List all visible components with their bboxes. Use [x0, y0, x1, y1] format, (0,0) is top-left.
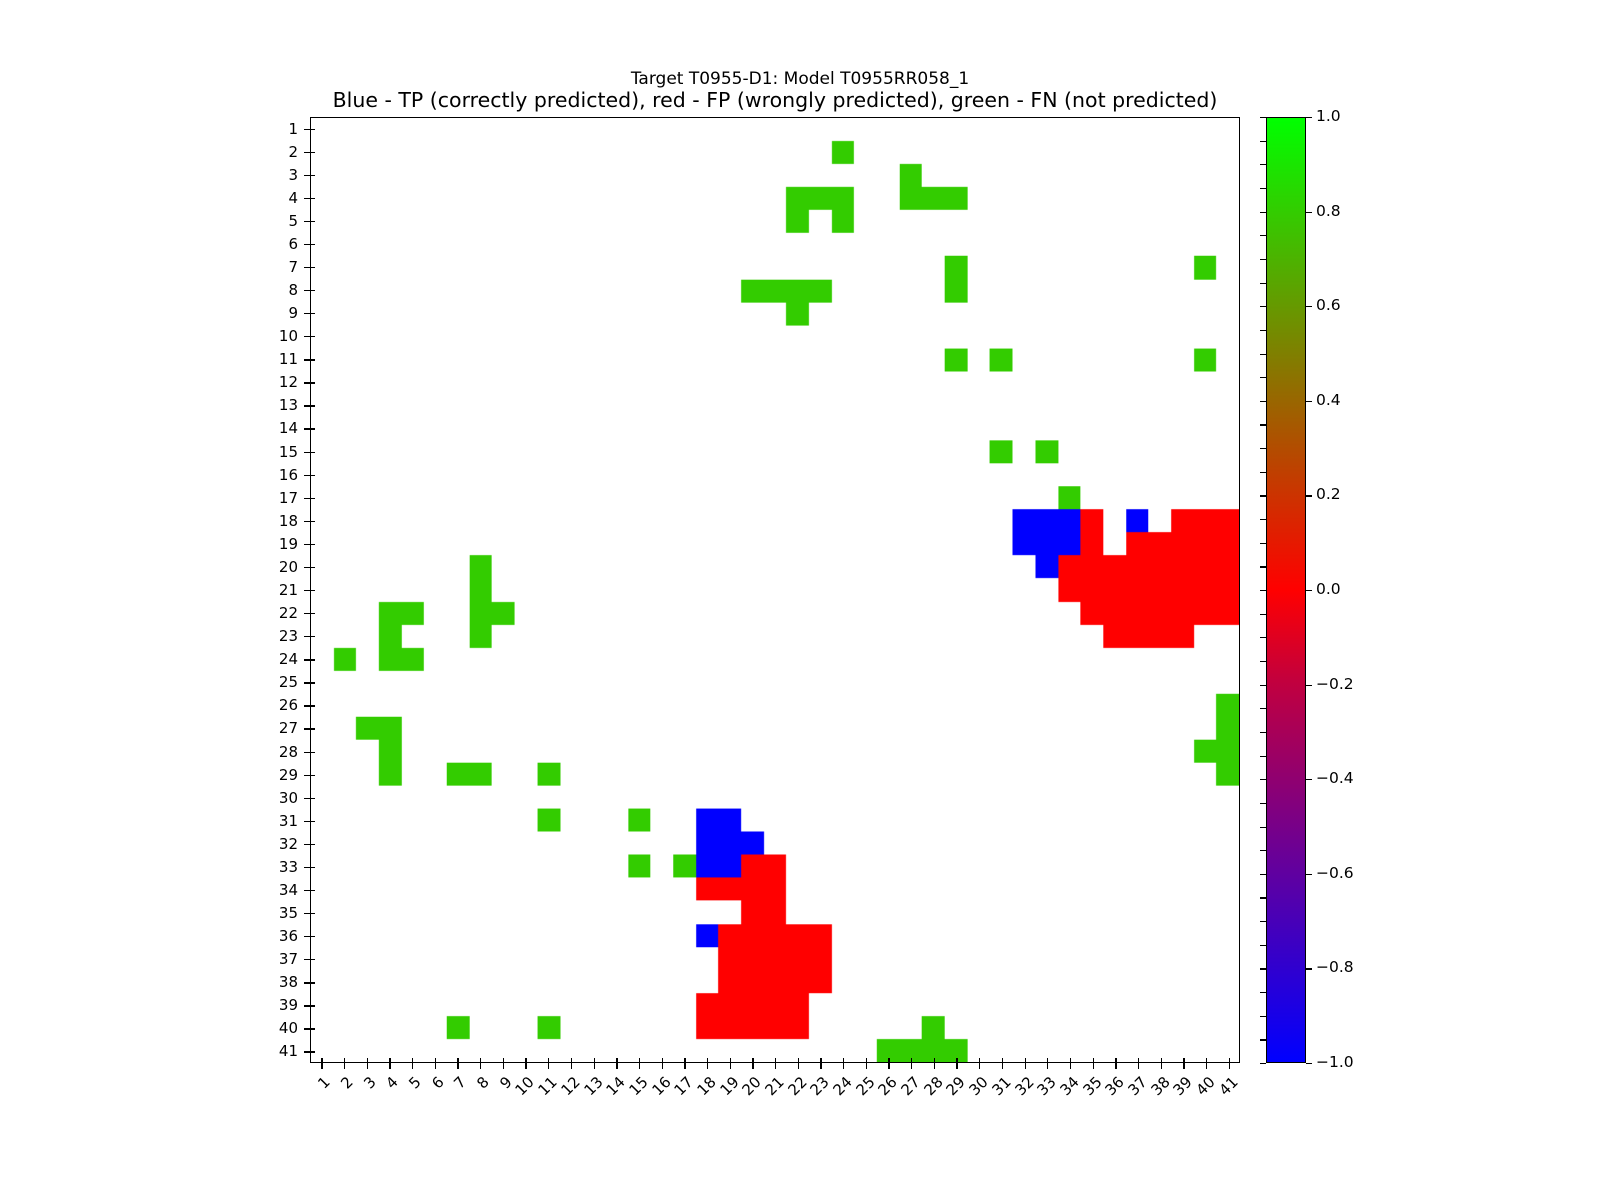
colorbar-minor-tick: [1260, 708, 1266, 709]
colorbar-minor-tick: [1260, 448, 1266, 449]
x-axis-tick: [662, 1063, 663, 1069]
x-axis-tick-inner: [389, 1058, 390, 1063]
y-axis-tick-label: 1: [258, 120, 298, 138]
x-axis-tick: [934, 1063, 935, 1069]
colorbar-minor-tick: [1260, 897, 1266, 898]
y-axis-tick-label: 8: [258, 281, 298, 299]
y-axis-tick-label: 12: [258, 373, 298, 391]
x-axis-tick: [639, 1063, 640, 1069]
colorbar-minor-tick: [1260, 992, 1266, 993]
x-axis-tick-inner: [594, 1058, 595, 1063]
colorbar-tick: [1306, 401, 1312, 402]
colorbar-tick-label: −0.8: [1316, 958, 1354, 976]
x-axis-tick: [412, 1063, 413, 1069]
colorbar-minor-tick: [1260, 685, 1266, 686]
x-axis-tick-inner: [1070, 1058, 1071, 1063]
x-axis-tick: [1070, 1063, 1071, 1069]
y-axis-tick-inner: [310, 221, 315, 222]
x-axis-tick: [820, 1063, 821, 1069]
x-axis-tick: [616, 1063, 617, 1069]
y-axis-tick-inner: [310, 752, 315, 753]
y-axis-tick-inner: [310, 359, 315, 360]
colorbar-minor-tick: [1260, 141, 1266, 142]
y-axis-tick-label: 18: [258, 512, 298, 530]
colorbar-tick: [1306, 117, 1312, 118]
colorbar-minor-tick: [1260, 543, 1266, 544]
colorbar-tick: [1306, 1063, 1312, 1064]
colorbar-minor-tick: [1260, 874, 1266, 875]
x-axis-tick-inner: [684, 1058, 685, 1063]
axes-title-legend: Blue - TP (correctly predicted), red - F…: [310, 88, 1240, 112]
y-axis-tick-label: 6: [258, 235, 298, 253]
y-axis-tick-inner: [310, 290, 315, 291]
y-axis-tick-label: 33: [258, 858, 298, 876]
y-axis-tick-inner: [310, 844, 315, 845]
x-axis-tick: [1047, 1063, 1048, 1069]
colorbar-minor-tick: [1260, 1063, 1266, 1064]
x-axis-tick: [911, 1063, 912, 1069]
x-axis-tick: [1229, 1063, 1230, 1069]
colorbar-minor-tick: [1260, 968, 1266, 969]
x-axis-tick-inner: [730, 1058, 731, 1063]
colorbar-minor-tick: [1260, 354, 1266, 355]
x-axis-tick-inner: [503, 1058, 504, 1063]
contact-map-heatmap[interactable]: [311, 118, 1239, 1062]
x-axis-tick-inner: [1025, 1058, 1026, 1063]
y-axis-tick-inner: [310, 152, 315, 153]
x-axis-tick: [367, 1063, 368, 1069]
x-axis-tick: [480, 1063, 481, 1069]
x-axis-tick: [1093, 1063, 1094, 1069]
colorbar-tick-label: 0.8: [1316, 202, 1341, 220]
x-axis-tick: [344, 1063, 345, 1069]
colorbar-minor-tick: [1260, 519, 1266, 520]
colorbar-tick: [1306, 212, 1312, 213]
y-axis-tick-label: 23: [258, 627, 298, 645]
x-axis-tick: [1138, 1063, 1139, 1069]
y-axis-tick-inner: [310, 613, 315, 614]
y-axis-tick-inner: [310, 705, 315, 706]
colorbar-tick: [1306, 495, 1312, 496]
y-axis-tick-label: 25: [258, 673, 298, 691]
x-axis-tick-inner: [956, 1058, 957, 1063]
y-axis-tick-label: 15: [258, 443, 298, 461]
colorbar-tick-label: 0.2: [1316, 485, 1341, 503]
x-axis-tick-inner: [888, 1058, 889, 1063]
x-axis-tick-inner: [1161, 1058, 1162, 1063]
x-axis-tick-inner: [344, 1058, 345, 1063]
y-axis-tick-inner: [310, 521, 315, 522]
x-axis-tick-inner: [979, 1058, 980, 1063]
colorbar-minor-tick: [1260, 1016, 1266, 1017]
x-axis-tick: [707, 1063, 708, 1069]
y-axis-tick-label: 5: [258, 212, 298, 230]
x-axis-tick-inner: [707, 1058, 708, 1063]
colorbar-minor-tick: [1260, 827, 1266, 828]
x-axis-tick: [888, 1063, 889, 1069]
x-axis-tick-inner: [1093, 1058, 1094, 1063]
x-axis-tick: [525, 1063, 526, 1069]
y-axis-tick-inner: [310, 567, 315, 568]
colorbar-tick: [1306, 685, 1312, 686]
y-axis-tick-label: 32: [258, 835, 298, 853]
x-axis-tick: [548, 1063, 549, 1069]
x-axis-tick: [1206, 1063, 1207, 1069]
x-axis-tick-inner: [480, 1058, 481, 1063]
x-axis-tick-inner: [1183, 1058, 1184, 1063]
y-axis-tick-inner: [310, 175, 315, 176]
x-axis-tick: [798, 1063, 799, 1069]
y-axis-tick-label: 38: [258, 973, 298, 991]
colorbar-tick-label: −0.6: [1316, 864, 1354, 882]
y-axis-tick-inner: [310, 728, 315, 729]
x-axis-tick-inner: [1229, 1058, 1230, 1063]
x-axis-tick-inner: [321, 1058, 322, 1063]
y-axis-tick-inner: [310, 244, 315, 245]
colorbar-tick: [1306, 779, 1312, 780]
colorbar-minor-tick: [1260, 756, 1266, 757]
colorbar-minor-tick: [1260, 212, 1266, 213]
y-axis-tick-inner: [310, 959, 315, 960]
x-axis-tick-inner: [412, 1058, 413, 1063]
colorbar-minor-tick: [1260, 495, 1266, 496]
x-axis-tick: [1183, 1063, 1184, 1069]
x-axis-tick: [752, 1063, 753, 1069]
x-axis-tick-inner: [548, 1058, 549, 1063]
colorbar-minor-tick: [1260, 283, 1266, 284]
y-axis-tick-inner: [310, 498, 315, 499]
y-axis-tick-inner: [310, 475, 315, 476]
colorbar-minor-tick: [1260, 566, 1266, 567]
y-axis-tick-inner: [310, 313, 315, 314]
y-axis-tick-inner: [310, 913, 315, 914]
y-axis-tick-label: 41: [258, 1042, 298, 1060]
x-axis-tick: [979, 1063, 980, 1069]
x-axis-tick: [866, 1063, 867, 1069]
y-axis-tick-label: 9: [258, 304, 298, 322]
colorbar-tick: [1306, 590, 1312, 591]
y-axis-tick-label: 31: [258, 812, 298, 830]
x-axis-tick-inner: [616, 1058, 617, 1063]
y-axis-tick-label: 2: [258, 143, 298, 161]
y-axis-tick-inner: [310, 682, 315, 683]
y-axis-tick-inner: [310, 821, 315, 822]
colorbar-minor-tick: [1260, 637, 1266, 638]
y-axis-tick-inner: [310, 1028, 315, 1029]
x-axis-tick: [1161, 1063, 1162, 1069]
y-axis-tick-inner: [310, 775, 315, 776]
y-axis-tick-inner: [310, 890, 315, 891]
colorbar-minor-tick: [1260, 235, 1266, 236]
y-axis-tick-label: 21: [258, 581, 298, 599]
y-axis-tick-inner: [310, 936, 315, 937]
y-axis-tick-inner: [310, 636, 315, 637]
x-axis-tick-inner: [798, 1058, 799, 1063]
x-axis-tick-inner: [934, 1058, 935, 1063]
y-axis-tick-inner: [310, 336, 315, 337]
y-axis-tick-label: 16: [258, 466, 298, 484]
y-axis-tick-label: 11: [258, 350, 298, 368]
x-axis-tick: [1025, 1063, 1026, 1069]
y-axis-tick-label: 10: [258, 327, 298, 345]
y-axis-tick-label: 27: [258, 719, 298, 737]
x-axis-tick: [594, 1063, 595, 1069]
y-axis-tick-label: 28: [258, 743, 298, 761]
colorbar-minor-tick: [1260, 661, 1266, 662]
y-axis-tick-inner: [310, 867, 315, 868]
y-axis-tick-label: 20: [258, 558, 298, 576]
x-axis-tick-inner: [1138, 1058, 1139, 1063]
colorbar-minor-tick: [1260, 803, 1266, 804]
colorbar-minor-tick: [1260, 164, 1266, 165]
y-axis-tick-label: 39: [258, 996, 298, 1014]
colorbar-minor-tick: [1260, 401, 1266, 402]
colorbar-tick-label: −1.0: [1316, 1053, 1354, 1071]
y-axis-tick-label: 7: [258, 258, 298, 276]
x-axis-tick-inner: [1206, 1058, 1207, 1063]
colorbar-minor-tick: [1260, 259, 1266, 260]
x-axis-tick-inner: [752, 1058, 753, 1063]
x-axis-tick-inner: [639, 1058, 640, 1063]
colorbar-minor-tick: [1260, 377, 1266, 378]
y-axis-tick-inner: [310, 405, 315, 406]
figure-canvas: Target T0955-D1: Model T0955RR058_1 Corr…: [0, 0, 1600, 1200]
y-axis-tick-label: 30: [258, 789, 298, 807]
colorbar-tick-label: −0.4: [1316, 769, 1354, 787]
y-axis-tick-inner: [310, 544, 315, 545]
y-axis-tick-label: 40: [258, 1019, 298, 1037]
colorbar-tick: [1306, 968, 1312, 969]
x-axis-tick-inner: [820, 1058, 821, 1063]
x-axis-tick: [684, 1063, 685, 1069]
x-axis-tick-inner: [866, 1058, 867, 1063]
colorbar-tick: [1306, 306, 1312, 307]
y-axis-tick-label: 34: [258, 881, 298, 899]
colorbar-minor-tick: [1260, 424, 1266, 425]
y-axis-tick-inner: [310, 382, 315, 383]
x-axis-tick: [571, 1063, 572, 1069]
y-axis-tick-label: 19: [258, 535, 298, 553]
colorbar-tick-label: 0.4: [1316, 391, 1341, 409]
colorbar-minor-tick: [1260, 921, 1266, 922]
colorbar-minor-tick: [1260, 117, 1266, 118]
x-axis-tick-inner: [571, 1058, 572, 1063]
y-axis-tick-inner: [310, 267, 315, 268]
x-axis-tick: [457, 1063, 458, 1069]
y-axis-tick-label: 37: [258, 950, 298, 968]
x-axis-tick: [775, 1063, 776, 1069]
colorbar-tick: [1306, 874, 1312, 875]
x-axis-tick-inner: [911, 1058, 912, 1063]
x-axis-tick-inner: [367, 1058, 368, 1063]
x-axis-tick: [956, 1063, 957, 1069]
y-axis-tick-inner: [310, 198, 315, 199]
x-axis-tick: [321, 1063, 322, 1069]
x-axis-tick: [730, 1063, 731, 1069]
y-axis-tick-label: 3: [258, 166, 298, 184]
y-axis-tick-inner: [310, 659, 315, 660]
x-axis-tick-inner: [457, 1058, 458, 1063]
x-axis-tick: [1115, 1063, 1116, 1069]
y-axis-tick-inner: [310, 1051, 315, 1052]
y-axis-tick-inner: [310, 798, 315, 799]
colorbar-minor-tick: [1260, 779, 1266, 780]
contact-map-axes[interactable]: [310, 117, 1240, 1063]
y-axis-tick-label: 26: [258, 696, 298, 714]
y-axis-tick-label: 22: [258, 604, 298, 622]
colorbar-minor-tick: [1260, 732, 1266, 733]
colorbar-minor-tick: [1260, 306, 1266, 307]
colorbar-tick-label: 0.0: [1316, 580, 1341, 598]
x-axis-tick-inner: [662, 1058, 663, 1063]
colorbar-minor-tick: [1260, 330, 1266, 331]
colorbar-minor-tick: [1260, 1039, 1266, 1040]
y-axis-tick-label: 36: [258, 927, 298, 945]
y-axis-tick-inner: [310, 428, 315, 429]
colorbar-minor-tick: [1260, 472, 1266, 473]
x-axis-tick-inner: [525, 1058, 526, 1063]
y-axis-tick-inner: [310, 129, 315, 130]
colorbar[interactable]: [1266, 117, 1306, 1063]
x-axis-tick-inner: [775, 1058, 776, 1063]
colorbar-tick-label: 1.0: [1316, 107, 1341, 125]
x-axis-tick: [1002, 1063, 1003, 1069]
y-axis-tick-label: 17: [258, 489, 298, 507]
x-axis-tick-inner: [1115, 1058, 1116, 1063]
colorbar-tick-label: 0.6: [1316, 296, 1341, 314]
y-axis-tick-label: 35: [258, 904, 298, 922]
x-axis-tick: [435, 1063, 436, 1069]
y-axis-tick-inner: [310, 982, 315, 983]
y-axis-tick-label: 14: [258, 419, 298, 437]
x-axis-tick: [843, 1063, 844, 1069]
colorbar-tick-label: −0.2: [1316, 675, 1354, 693]
y-axis-tick-inner: [310, 452, 315, 453]
y-axis-tick-label: 24: [258, 650, 298, 668]
x-axis-tick: [503, 1063, 504, 1069]
x-axis-tick-inner: [1047, 1058, 1048, 1063]
colorbar-minor-tick: [1260, 614, 1266, 615]
y-axis-tick-label: 29: [258, 766, 298, 784]
y-axis-tick-inner: [310, 1005, 315, 1006]
y-axis-tick-label: 13: [258, 396, 298, 414]
colorbar-minor-tick: [1260, 850, 1266, 851]
y-axis-tick-inner: [310, 590, 315, 591]
colorbar-minor-tick: [1260, 945, 1266, 946]
colorbar-minor-tick: [1260, 188, 1266, 189]
y-axis-tick-label: 4: [258, 189, 298, 207]
x-axis-tick-inner: [435, 1058, 436, 1063]
x-axis-tick-inner: [843, 1058, 844, 1063]
x-axis-tick-inner: [1002, 1058, 1003, 1063]
colorbar-minor-tick: [1260, 590, 1266, 591]
x-axis-tick: [389, 1063, 390, 1069]
